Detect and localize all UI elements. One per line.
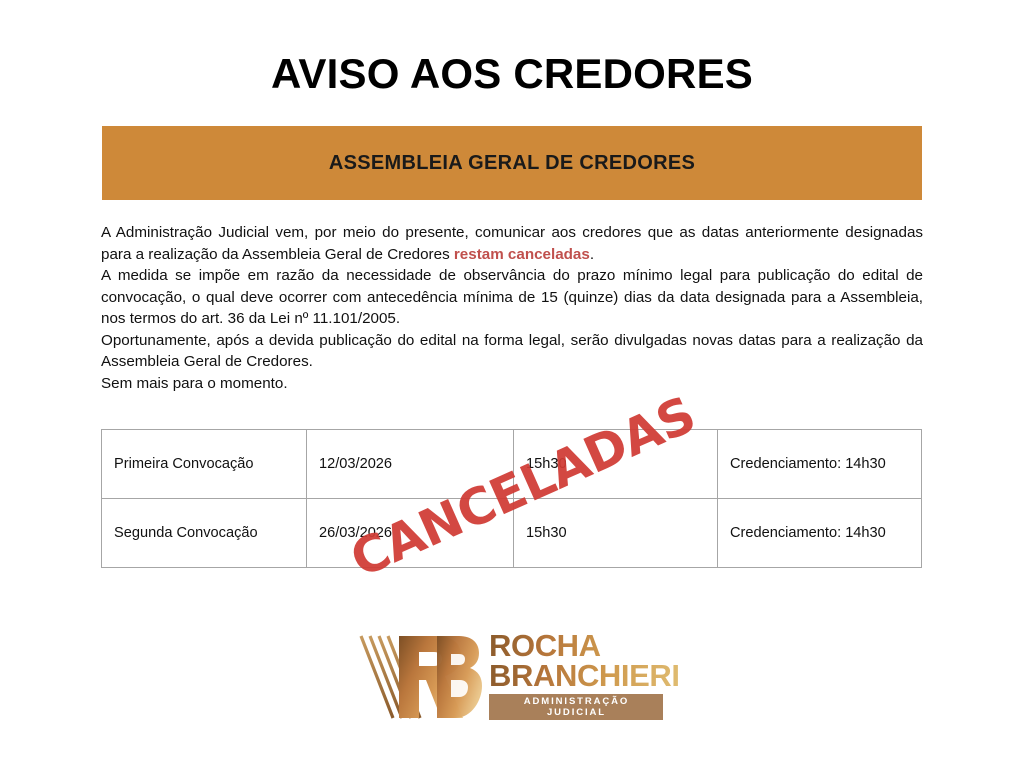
schedule-table-wrapper: Primeira Convocação 12/03/2026 15h30 Cre… <box>101 429 921 568</box>
logo-tagline: ADMINISTRAÇÃO JUDICIAL <box>489 694 663 720</box>
section-banner: ASSEMBLEIA GERAL DE CREDORES <box>102 126 922 200</box>
cell-time: 15h30 <box>514 430 718 499</box>
paragraph-1: A Administração Judicial vem, por meio d… <box>101 222 923 265</box>
page-title: AVISO AOS CREDORES <box>0 52 1024 96</box>
body-text: A Administração Judicial vem, por meio d… <box>101 222 923 395</box>
logo-line-rocha: ROCHA <box>489 631 680 661</box>
cell-convocation: Segunda Convocação <box>102 499 307 568</box>
rb-monogram-icon <box>355 630 483 722</box>
cell-time: 15h30 <box>514 499 718 568</box>
paragraph-2: A medida se impõe em razão da necessidad… <box>101 265 923 330</box>
paragraph-1-tail: . <box>590 246 594 263</box>
cancellation-highlight: restam canceladas <box>454 246 590 263</box>
paragraph-3: Oportunamente, após a devida publicação … <box>101 330 923 373</box>
logo-wordmark: ROCHA BRANCHIERI ADMINISTRAÇÃO JUDICIAL <box>489 631 680 721</box>
cell-convocation: Primeira Convocação <box>102 430 307 499</box>
document-page: AVISO AOS CREDORES ASSEMBLEIA GERAL DE C… <box>0 0 1024 768</box>
table-row: Segunda Convocação 26/03/2026 15h30 Cred… <box>102 499 922 568</box>
paragraph-4: Sem mais para o momento. <box>101 373 923 395</box>
banner-title: ASSEMBLEIA GERAL DE CREDORES <box>329 152 695 175</box>
company-logo: ROCHA BRANCHIERI ADMINISTRAÇÃO JUDICIAL <box>355 628 675 723</box>
cell-credential: Credenciamento: 14h30 <box>718 430 922 499</box>
schedule-table: Primeira Convocação 12/03/2026 15h30 Cre… <box>101 429 922 568</box>
cell-date: 12/03/2026 <box>307 430 514 499</box>
table-row: Primeira Convocação 12/03/2026 15h30 Cre… <box>102 430 922 499</box>
cell-credential: Credenciamento: 14h30 <box>718 499 922 568</box>
cell-date: 26/03/2026 <box>307 499 514 568</box>
logo-line-branchieri: BRANCHIERI <box>489 661 680 691</box>
